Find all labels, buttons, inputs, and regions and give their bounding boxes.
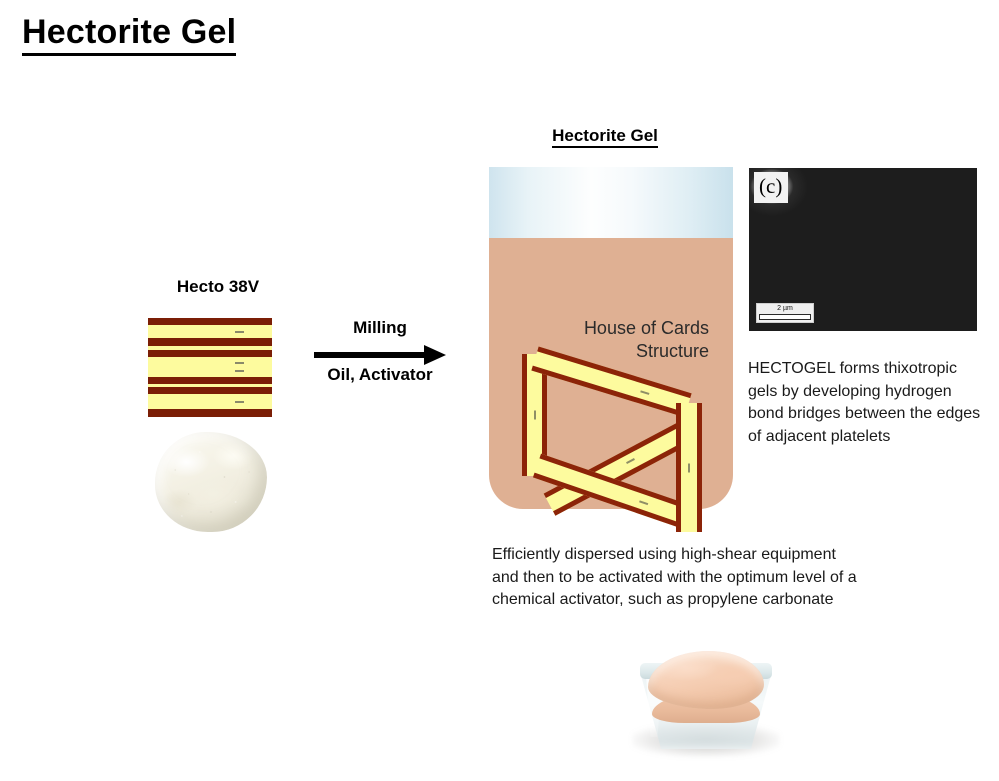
slide-canvas: Hectorite Gel Hecto 38V Milling Oil, Act… xyxy=(0,0,999,781)
gel-in-glass-bowl-photo xyxy=(622,645,790,767)
layered-platelet-stack-icon xyxy=(148,318,272,400)
hecto-38v-label: Hecto 38V xyxy=(133,277,303,297)
gel-mass xyxy=(648,651,764,709)
sem-scale-bar: 2 µm xyxy=(756,303,814,323)
hectorite-gel-heading-text: Hectorite Gel xyxy=(552,126,658,148)
right-arrow-icon xyxy=(314,352,426,358)
page-title: Hectorite Gel xyxy=(22,14,236,56)
hectorite-gel-heading: Hectorite Gel xyxy=(490,126,720,146)
process-arrow-group: Milling Oil, Activator xyxy=(300,318,460,398)
hectogel-description: HECTOGEL forms thixotropic gels by devel… xyxy=(748,358,986,449)
powder-heap-icon xyxy=(155,432,267,532)
milling-label: Milling xyxy=(300,318,460,338)
oil-activator-label: Oil, Activator xyxy=(300,365,460,385)
dispersion-description: Efficiently dispersed using high-shear e… xyxy=(492,544,867,612)
platelet-card-right xyxy=(676,403,702,532)
sem-scale-bar-label: 2 µm xyxy=(759,305,811,313)
beaker-icon: House of Cards Structure xyxy=(489,167,733,509)
beaker-glass-section xyxy=(489,167,733,238)
sem-panel-label: (c) xyxy=(754,172,788,203)
sem-micrograph: (c) 2 µm xyxy=(749,168,977,331)
right-arrow-head-icon xyxy=(424,345,446,365)
sem-scale-bar-line xyxy=(759,314,811,320)
beaker-fill-section: House of Cards Structure xyxy=(489,238,733,509)
